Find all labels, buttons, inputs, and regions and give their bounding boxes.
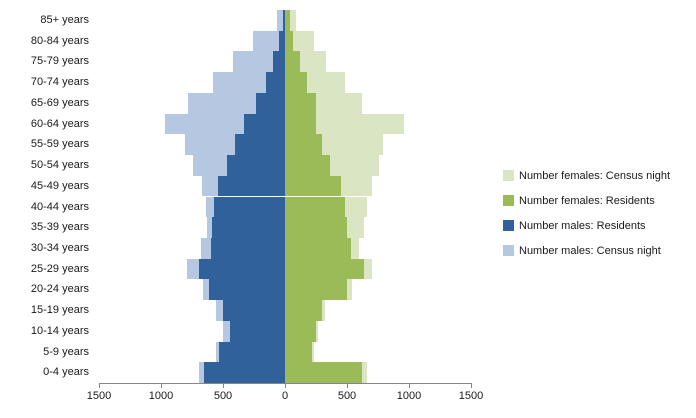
y-axis-label: 55-59 years bbox=[31, 134, 89, 155]
pyramid-row bbox=[99, 362, 471, 383]
pyramid-row bbox=[99, 238, 471, 259]
bar-left bbox=[273, 51, 285, 72]
legend-label: Number females: Residents bbox=[519, 195, 655, 207]
bar-right bbox=[285, 238, 351, 259]
y-axis-label: 25-29 years bbox=[31, 259, 89, 280]
y-axis-label: 65-69 years bbox=[31, 93, 89, 114]
bar-left bbox=[199, 259, 285, 280]
y-axis-label: 80-84 years bbox=[31, 31, 89, 52]
bar-left bbox=[235, 134, 285, 155]
y-axis-label: 0-4 years bbox=[43, 362, 89, 383]
bar-left bbox=[244, 114, 285, 135]
plot-area bbox=[99, 10, 471, 383]
bar-right bbox=[285, 93, 316, 114]
population-pyramid-chart: 85+ years80-84 years75-79 years70-74 yea… bbox=[0, 0, 696, 418]
x-axis-tick bbox=[99, 383, 100, 388]
x-axis-tick-label: 500 bbox=[338, 390, 356, 402]
y-axis-label: 60-64 years bbox=[31, 114, 89, 135]
pyramid-row bbox=[99, 217, 471, 238]
x-axis-tick-label: 500 bbox=[214, 390, 232, 402]
bar-left bbox=[227, 155, 285, 176]
pyramid-row bbox=[99, 134, 471, 155]
bar-right bbox=[285, 114, 316, 135]
bar-right bbox=[285, 279, 347, 300]
bar-left bbox=[283, 10, 285, 31]
x-axis-tick-label: 1500 bbox=[87, 390, 111, 402]
y-axis-category-labels: 85+ years80-84 years75-79 years70-74 yea… bbox=[0, 10, 92, 383]
bar-right bbox=[285, 31, 293, 52]
pyramid-row bbox=[99, 197, 471, 218]
y-axis-label: 20-24 years bbox=[31, 279, 89, 300]
bar-right bbox=[285, 217, 347, 238]
pyramid-row bbox=[99, 176, 471, 197]
y-axis-label: 85+ years bbox=[40, 10, 89, 31]
bar-left bbox=[230, 321, 285, 342]
bar-right bbox=[285, 197, 345, 218]
pyramid-row bbox=[99, 259, 471, 280]
bar-right bbox=[285, 259, 364, 280]
legend-item[interactable]: Number females: Residents bbox=[503, 191, 693, 210]
bar-left bbox=[266, 72, 285, 93]
bar-right bbox=[285, 321, 316, 342]
y-axis-label: 5-9 years bbox=[43, 342, 89, 363]
bar-left bbox=[209, 279, 285, 300]
x-axis-tick-label: 1000 bbox=[149, 390, 173, 402]
bar-right bbox=[285, 300, 322, 321]
x-axis-tick-labels: 15001000500050010001500 bbox=[0, 390, 696, 408]
bar-right bbox=[285, 51, 300, 72]
bar-left bbox=[204, 362, 285, 383]
x-axis-tick bbox=[285, 383, 286, 388]
bar-right bbox=[285, 10, 290, 31]
x-axis-tick-label: 0 bbox=[282, 390, 288, 402]
y-axis-label: 10-14 years bbox=[31, 321, 89, 342]
pyramid-row bbox=[99, 155, 471, 176]
x-axis-tick bbox=[409, 383, 410, 388]
pyramid-row bbox=[99, 51, 471, 72]
y-axis-label: 75-79 years bbox=[31, 51, 89, 72]
pyramid-row bbox=[99, 300, 471, 321]
bar-right bbox=[285, 134, 322, 155]
legend-label: Number males: Residents bbox=[519, 220, 646, 232]
legend-item[interactable]: Number males: Residents bbox=[503, 216, 693, 235]
y-axis-label: 70-74 years bbox=[31, 72, 89, 93]
legend-swatch-icon bbox=[503, 220, 514, 231]
y-axis-label: 40-44 years bbox=[31, 197, 89, 218]
bar-left bbox=[256, 93, 285, 114]
pyramid-row bbox=[99, 10, 471, 31]
legend-item[interactable]: Number females: Census night bbox=[503, 166, 693, 185]
bar-right bbox=[285, 362, 362, 383]
pyramid-row bbox=[99, 321, 471, 342]
legend-item[interactable]: Number males: Census night bbox=[503, 241, 693, 260]
pyramid-row bbox=[99, 342, 471, 363]
x-axis-tick bbox=[161, 383, 162, 388]
bar-right bbox=[285, 72, 307, 93]
y-axis-label: 45-49 years bbox=[31, 176, 89, 197]
chart-legend: Number females: Census nightNumber femal… bbox=[503, 166, 693, 266]
y-axis-label: 50-54 years bbox=[31, 155, 89, 176]
bar-right bbox=[285, 176, 341, 197]
x-axis-tick-label: 1500 bbox=[459, 390, 483, 402]
y-axis-label: 15-19 years bbox=[31, 300, 89, 321]
x-axis-tick-label: 1000 bbox=[397, 390, 421, 402]
legend-swatch-icon bbox=[503, 195, 514, 206]
bar-right bbox=[285, 155, 330, 176]
y-axis-label: 35-39 years bbox=[31, 217, 89, 238]
x-axis-tick bbox=[471, 383, 472, 388]
pyramid-row bbox=[99, 114, 471, 135]
legend-swatch-icon bbox=[503, 170, 514, 181]
bar-left bbox=[212, 217, 285, 238]
legend-swatch-icon bbox=[503, 245, 514, 256]
pyramid-row bbox=[99, 31, 471, 52]
legend-label: Number females: Census night bbox=[519, 170, 670, 182]
pyramid-row bbox=[99, 93, 471, 114]
bar-left bbox=[279, 31, 285, 52]
bar-left bbox=[211, 238, 285, 259]
bar-left bbox=[218, 176, 285, 197]
pyramid-row bbox=[99, 72, 471, 93]
bar-right bbox=[285, 342, 312, 363]
x-axis-tick bbox=[223, 383, 224, 388]
legend-label: Number males: Census night bbox=[519, 245, 661, 257]
bar-left bbox=[223, 300, 285, 321]
pyramid-row bbox=[99, 279, 471, 300]
y-axis-label: 30-34 years bbox=[31, 238, 89, 259]
x-axis-tick bbox=[347, 383, 348, 388]
bar-left bbox=[214, 197, 285, 218]
bar-left bbox=[219, 342, 285, 363]
